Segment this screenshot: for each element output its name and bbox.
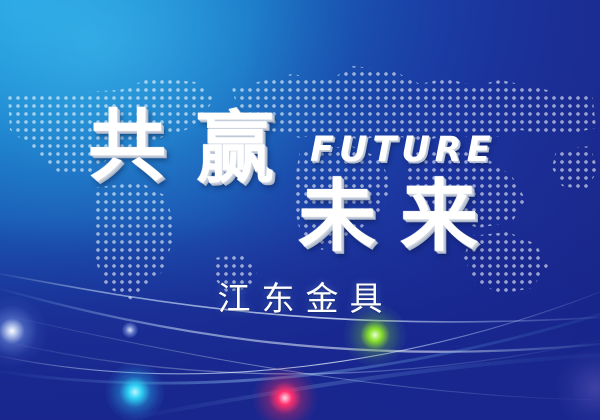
- headline-char-ying: 赢: [196, 110, 274, 188]
- headline-english-future: FUTURE: [310, 130, 495, 170]
- promo-banner: 共 赢 FUTURE 未 来 江东金具: [0, 0, 600, 420]
- company-name-subtitle: 江东金具: [0, 272, 600, 320]
- headline-char-wei: 未: [298, 178, 376, 256]
- headline-char-gong: 共: [88, 108, 166, 186]
- headline-char-lai: 来: [400, 178, 478, 256]
- banner-text-block: 共 赢 FUTURE 未 来 江东金具: [0, 0, 600, 420]
